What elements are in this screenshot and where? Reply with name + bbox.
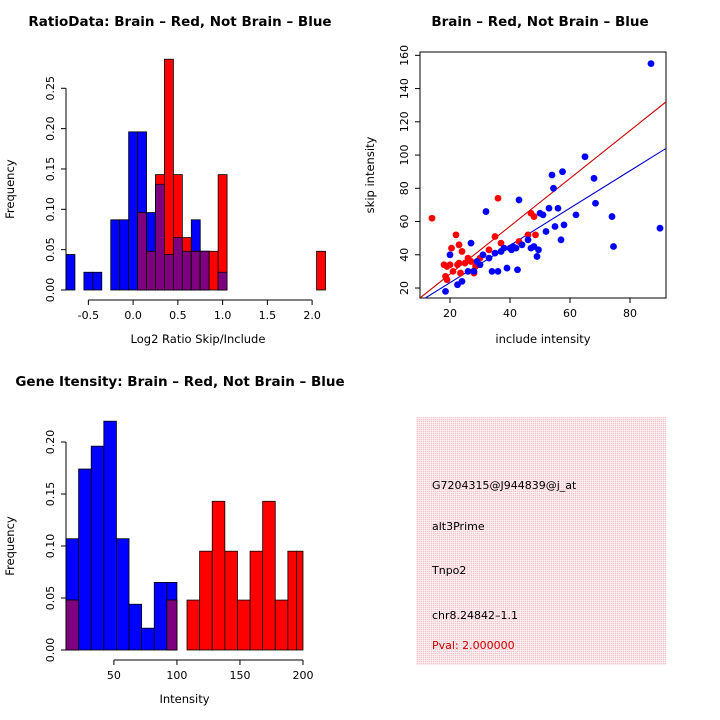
scatter-point [561,221,568,228]
y-axis-tick-label: 0.25 [44,76,57,101]
histogram-bar-overlap [66,600,79,650]
y-axis-tick-label: 120 [398,111,411,132]
x-axis-tick-label: 1.5 [259,309,277,322]
x-axis-tick-label: 0.5 [169,309,187,322]
y-axis-tick-label: 0.20 [44,430,57,455]
scatter-point [531,213,538,220]
splice-type-text: alt3Prime [432,520,485,533]
scatter-point [513,245,520,252]
scatter-point [457,270,464,277]
scatter-point [456,260,463,267]
histogram-bar-blue [116,539,129,650]
histogram-bars [66,421,303,650]
scatter-plot: 2040608010012014016020406080include inte… [360,0,720,360]
axes: 2040608010012014016020406080include inte… [363,45,637,346]
y-axis-tick-label: 0.05 [44,237,57,261]
y-axis-tick-label: 160 [398,45,411,66]
scatter-point [495,195,502,202]
y-axis-tick-label: 0.15 [44,482,57,507]
scatter-point [519,241,526,248]
scatter-point [534,253,541,260]
scatter-point [453,231,460,238]
scatter-point [540,211,547,218]
scatter-point [525,236,532,243]
panel-ratio-histogram: RatioData: Brain – Red, Not Brain – Blue… [0,0,360,360]
x-axis-tick-label: 100 [166,669,187,682]
y-axis-tick-label: 140 [398,78,411,99]
histogram-bar-red [288,551,297,650]
histogram-bar-blue [129,132,138,290]
scatter-point [459,278,466,285]
histogram-bar-overlap [200,251,209,290]
probe-id-text: G7204315@J944839@j_at [432,479,576,492]
scatter-point [442,288,449,295]
panel-intensity-scatter: Brain – Red, Not Brain – Blue 2040608010… [360,0,720,360]
x-axis-tick-label: 80 [623,307,637,320]
histogram-bar-red [250,551,263,650]
x-axis-tick-label: 2.0 [303,309,321,322]
scatter-point [486,255,493,262]
histogram-bar-blue [120,220,129,290]
histogram-bar-red [212,501,225,650]
scatter-point [456,241,463,248]
scatter-point [492,250,499,257]
annotation-box: G7204315@J944839@j_at alt3Prime Tnpo2 ch… [416,417,666,665]
x-axis-tick-label: 200 [293,669,314,682]
histogram-bar-overlap [138,213,147,290]
x-axis-label: Intensity [159,692,209,706]
y-axis-tick-label: 0.10 [44,197,57,222]
x-axis-label: Log2 Ratio Skip/Include [131,332,266,346]
ratio-histogram-plot: 0.000.050.100.150.200.25-0.50.00.51.01.5… [0,0,360,360]
histogram-bar-red [297,551,303,650]
scatter-point [504,265,511,272]
scatter-point [447,261,454,268]
histogram-bar-overlap [191,251,200,290]
histogram-bar-overlap [173,238,182,290]
histogram-bars [66,59,326,290]
y-axis-tick-label: 0.20 [44,116,57,141]
scatter-point [447,251,454,258]
scatter-point [559,168,566,175]
histogram-bar-overlap [182,251,191,290]
histogram-bar-blue [154,582,167,650]
x-axis-tick-label: 50 [107,669,121,682]
y-axis-tick-label: 0.05 [44,586,57,611]
x-axis-tick-label: 40 [503,307,517,320]
scatter-point [465,268,472,275]
scatter-point [573,211,580,218]
histogram-bar-blue [129,604,142,650]
scatter-point [657,225,664,232]
scatter-point [558,236,565,243]
scatter-point [532,231,539,238]
locus-text: chr8.24842–1.1 [432,609,518,622]
x-axis-tick-label: -0.5 [78,309,99,322]
histogram-bar-red [200,551,213,650]
scatter-point [552,223,559,230]
scatter-point [495,268,502,275]
scatter-point [489,268,496,275]
y-axis-tick-label: 0.15 [44,157,57,182]
histogram-bar-red [317,251,326,290]
histogram-bar-red [225,551,238,650]
scatter-point [514,266,521,273]
histogram-bar-red [187,600,200,650]
pval-text: Pval: 2.000000 [432,639,515,652]
histogram-bar-overlap [167,600,177,650]
y-axis-label: Frequency [3,159,17,219]
y-axis-tick-label: 100 [398,145,411,166]
y-axis-tick-label: 0.00 [44,278,57,303]
y-axis-tick-label: 0.00 [44,638,57,663]
histogram-bar-blue [91,446,104,650]
scatter-point [535,246,542,253]
histogram-bar-overlap [164,254,173,290]
scatter-series [429,195,539,283]
scatter-point [477,261,484,268]
panel-gene-intensity-histogram: Gene Itensity: Brain – Red, Not Brain – … [0,360,360,720]
x-axis-tick-label: 60 [563,307,577,320]
gene-symbol-text: Tnpo2 [432,564,466,577]
regression-line [420,148,666,301]
histogram-bar-blue [66,254,75,290]
histogram-bar-blue [104,421,117,650]
scatter-point [582,153,589,160]
scatter-point [546,205,553,212]
scatter-point [450,268,457,275]
scatter-point [549,172,556,179]
histogram-bar-blue [142,628,155,650]
scatter-point [459,248,466,255]
scatter-point [501,245,508,252]
x-axis-tick-label: 0.0 [124,309,142,322]
scatter-point [516,197,523,204]
y-axis-tick-label: 60 [398,215,411,229]
y-axis-label: Frequency [3,516,17,576]
histogram-bar-blue [84,272,93,290]
histogram-bar-overlap [218,272,227,290]
y-axis-tick-label: 80 [398,181,411,195]
histogram-bar-blue [79,469,92,650]
gene-histogram-plot: 0.000.050.100.150.2050100150200Intensity… [0,360,360,720]
histogram-bar-blue [111,220,120,290]
y-axis-tick-label: 40 [398,248,411,262]
scatter-point [648,60,655,67]
scatter-point [486,246,493,253]
regression-line [420,102,666,298]
y-axis-tick-label: 0.10 [44,534,57,559]
scatter-point [480,251,487,258]
histogram-bar-red [275,600,288,650]
x-axis-tick-label: 1.0 [214,309,232,322]
scatter-point [429,215,436,222]
scatter-point [483,208,490,215]
scatter-point [492,233,499,240]
scatter-point [591,175,598,182]
y-axis-label: skip intensity [363,136,377,213]
scatter-point [592,200,599,207]
scatter-point [468,240,475,247]
scatter-point [550,185,557,192]
scatter-content [420,60,666,301]
histogram-bar-red [263,501,276,650]
histogram-bar-overlap [155,184,164,290]
y-axis-tick-label: 20 [398,281,411,295]
scatter-point [610,243,617,250]
panel-annotation-info: G7204315@J944839@j_at alt3Prime Tnpo2 ch… [360,360,720,720]
scatter-point [555,205,562,212]
scatter-point [609,213,616,220]
scatter-series [442,60,663,295]
histogram-bar-blue [93,272,102,290]
histogram-bar-red [237,600,250,650]
scatter-point [543,228,550,235]
x-axis-tick-label: 150 [229,669,250,682]
figure-canvas: RatioData: Brain – Red, Not Brain – Blue… [0,0,720,720]
scatter-point [448,245,455,252]
x-axis-tick-label: 20 [443,307,457,320]
histogram-bar-overlap [147,251,156,290]
scatter-point [444,276,451,283]
histogram-bar-red [209,251,218,290]
scatter-point [471,268,478,275]
x-axis-label: include intensity [495,332,590,346]
